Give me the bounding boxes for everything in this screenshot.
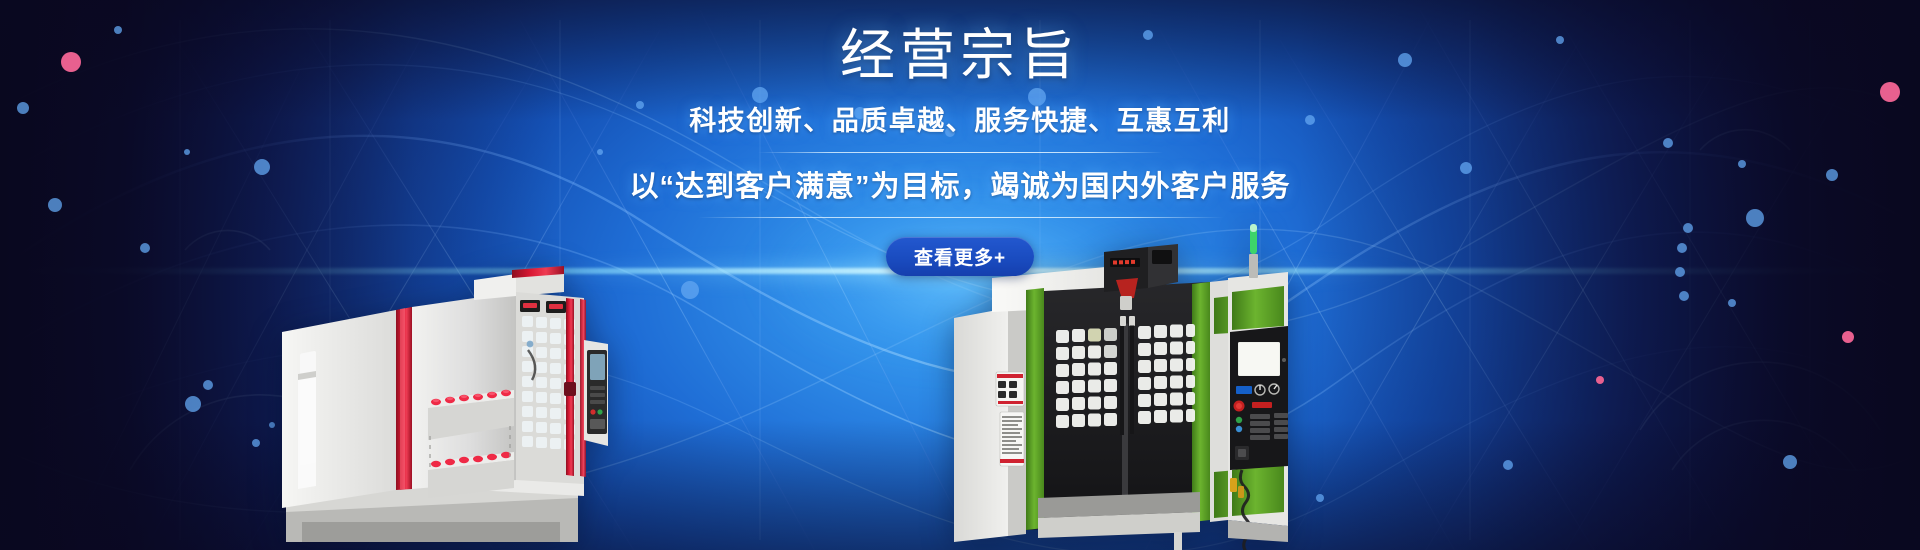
- divider-bottom: [698, 217, 1223, 218]
- hero-banner: 经营宗旨 科技创新、品质卓越、服务快捷、互惠互利 以“达到客户满意”为目标，竭诚…: [0, 0, 1920, 550]
- banner-tagline: 以“达到客户满意”为目标，竭诚为国内外客户服务: [629, 163, 1290, 205]
- page-title: 经营宗旨: [840, 24, 1080, 87]
- divider-top: [758, 152, 1163, 153]
- banner-content: 经营宗旨 科技创新、品质卓越、服务快捷、互惠互利 以“达到客户满意”为目标，竭诚…: [0, 0, 1920, 550]
- view-more-button[interactable]: 查看更多+: [886, 237, 1034, 276]
- banner-subtitle: 科技创新、品质卓越、服务快捷、互惠互利: [689, 99, 1231, 138]
